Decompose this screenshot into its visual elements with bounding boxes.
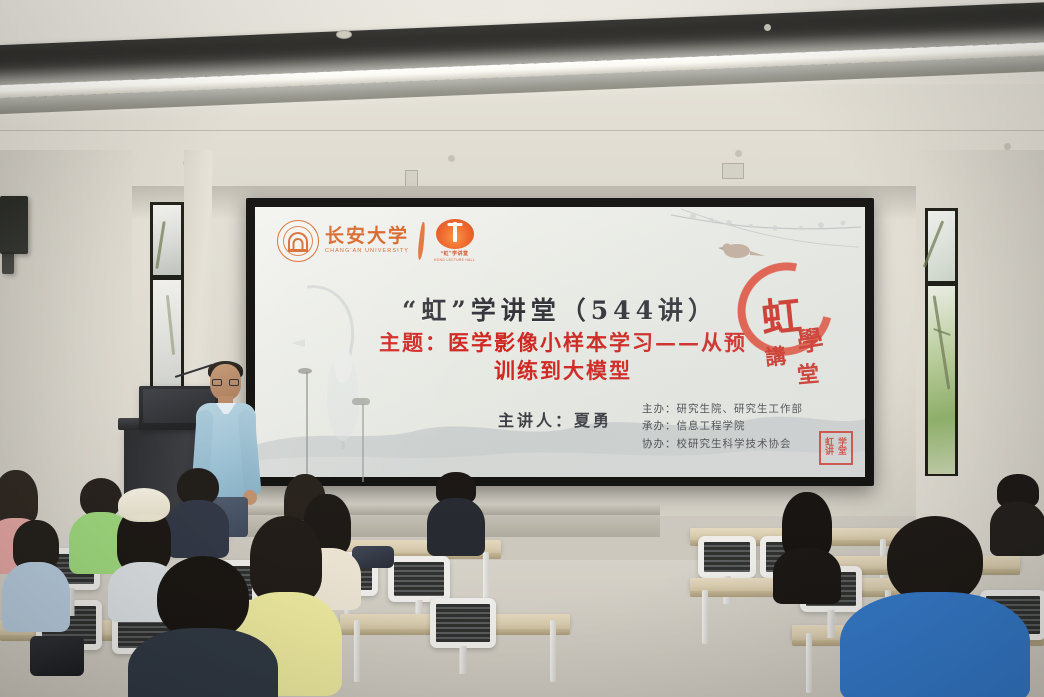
audience-person (995, 474, 1041, 544)
seal-char-jiang: 講 (763, 340, 787, 372)
university-name-en: CHANG'AN UNIVERSITY (325, 249, 409, 255)
organizer-co: 承办：信息工程学院 (642, 418, 803, 435)
glasses-icon (212, 379, 239, 386)
slide-logo-row: 长安大学 CHANG'AN UNIVERSITY “虹”学讲堂 HONG LEC… (277, 219, 475, 262)
mic-stand-head-icon (298, 368, 312, 374)
right-window (925, 208, 958, 476)
sprinkler-icon (448, 155, 455, 162)
red-square-stamp: 虹 学 讲 堂 (819, 431, 853, 465)
slide-organizers: 主办：研究生院、研究生工作部 承办：信息工程学院 协办：校研究生科学技术协会 (642, 401, 803, 453)
hong-logo-cn: “虹”学讲堂 (441, 250, 469, 257)
sprinkler-icon (764, 24, 771, 31)
sprinkler-icon (1004, 143, 1011, 150)
downlight-icon (336, 30, 352, 39)
stamp-char-3: 讲 (825, 448, 834, 457)
audience-person (880, 516, 990, 696)
speaker-bracket-icon (2, 252, 14, 274)
ceiling-seam-lower (0, 130, 1044, 131)
lecture-hall-photo: 长安大学 CHANG'AN UNIVERSITY “虹”学讲堂 HONG LEC… (0, 0, 1044, 697)
audience-person (10, 520, 62, 620)
seal-char-tang: 堂 (796, 356, 821, 390)
changan-university-logo: 长安大学 CHANG'AN UNIVERSITY (277, 220, 409, 262)
chair[interactable] (698, 536, 756, 578)
hong-emblem-icon (436, 219, 474, 249)
organizer-host: 主办：研究生院、研究生工作部 (642, 401, 803, 418)
ceiling-vent-icon (722, 163, 744, 179)
backpack-icon (30, 636, 84, 676)
audience-person (432, 472, 480, 548)
bird-icon (718, 243, 765, 258)
chair[interactable] (388, 556, 450, 602)
mic-stand-pole (306, 372, 308, 482)
led-display-panel[interactable]: 长安大学 CHANG'AN UNIVERSITY “虹”学讲堂 HONG LEC… (246, 198, 874, 486)
presentation-slide: 长安大学 CHANG'AN UNIVERSITY “虹”学讲堂 HONG LEC… (255, 207, 865, 477)
sprinkler-icon (735, 150, 742, 157)
wall-speaker-icon (0, 196, 28, 254)
hong-lecture-logo: “虹”学讲堂 HONG LECTURE HALL (434, 219, 475, 262)
audience-person (172, 468, 224, 546)
slide-subject-line2: 训练到大模型 (333, 357, 793, 386)
mic-stand-head-icon-2 (352, 398, 370, 405)
mic-stand-pole-2 (362, 404, 364, 482)
hong-logo-en: HONG LECTURE HALL (434, 258, 475, 262)
audience-person (155, 556, 251, 697)
slide-subject-line1: 主题：医学影像小样本学习——从预 (333, 329, 793, 358)
hong-calligraphy-seal: 虹 學 講 堂 (731, 259, 851, 389)
stamp-char-4: 堂 (838, 448, 847, 457)
cap-brim-icon (124, 514, 164, 520)
seal-char-xue: 學 (794, 319, 825, 360)
chair[interactable] (430, 598, 496, 648)
university-name-cn: 长安大学 (325, 227, 409, 246)
organizer-support: 协办：校研究生科学技术协会 (642, 436, 803, 453)
audience-person (780, 492, 834, 588)
university-emblem-icon (277, 220, 319, 262)
logo-divider (417, 221, 426, 259)
